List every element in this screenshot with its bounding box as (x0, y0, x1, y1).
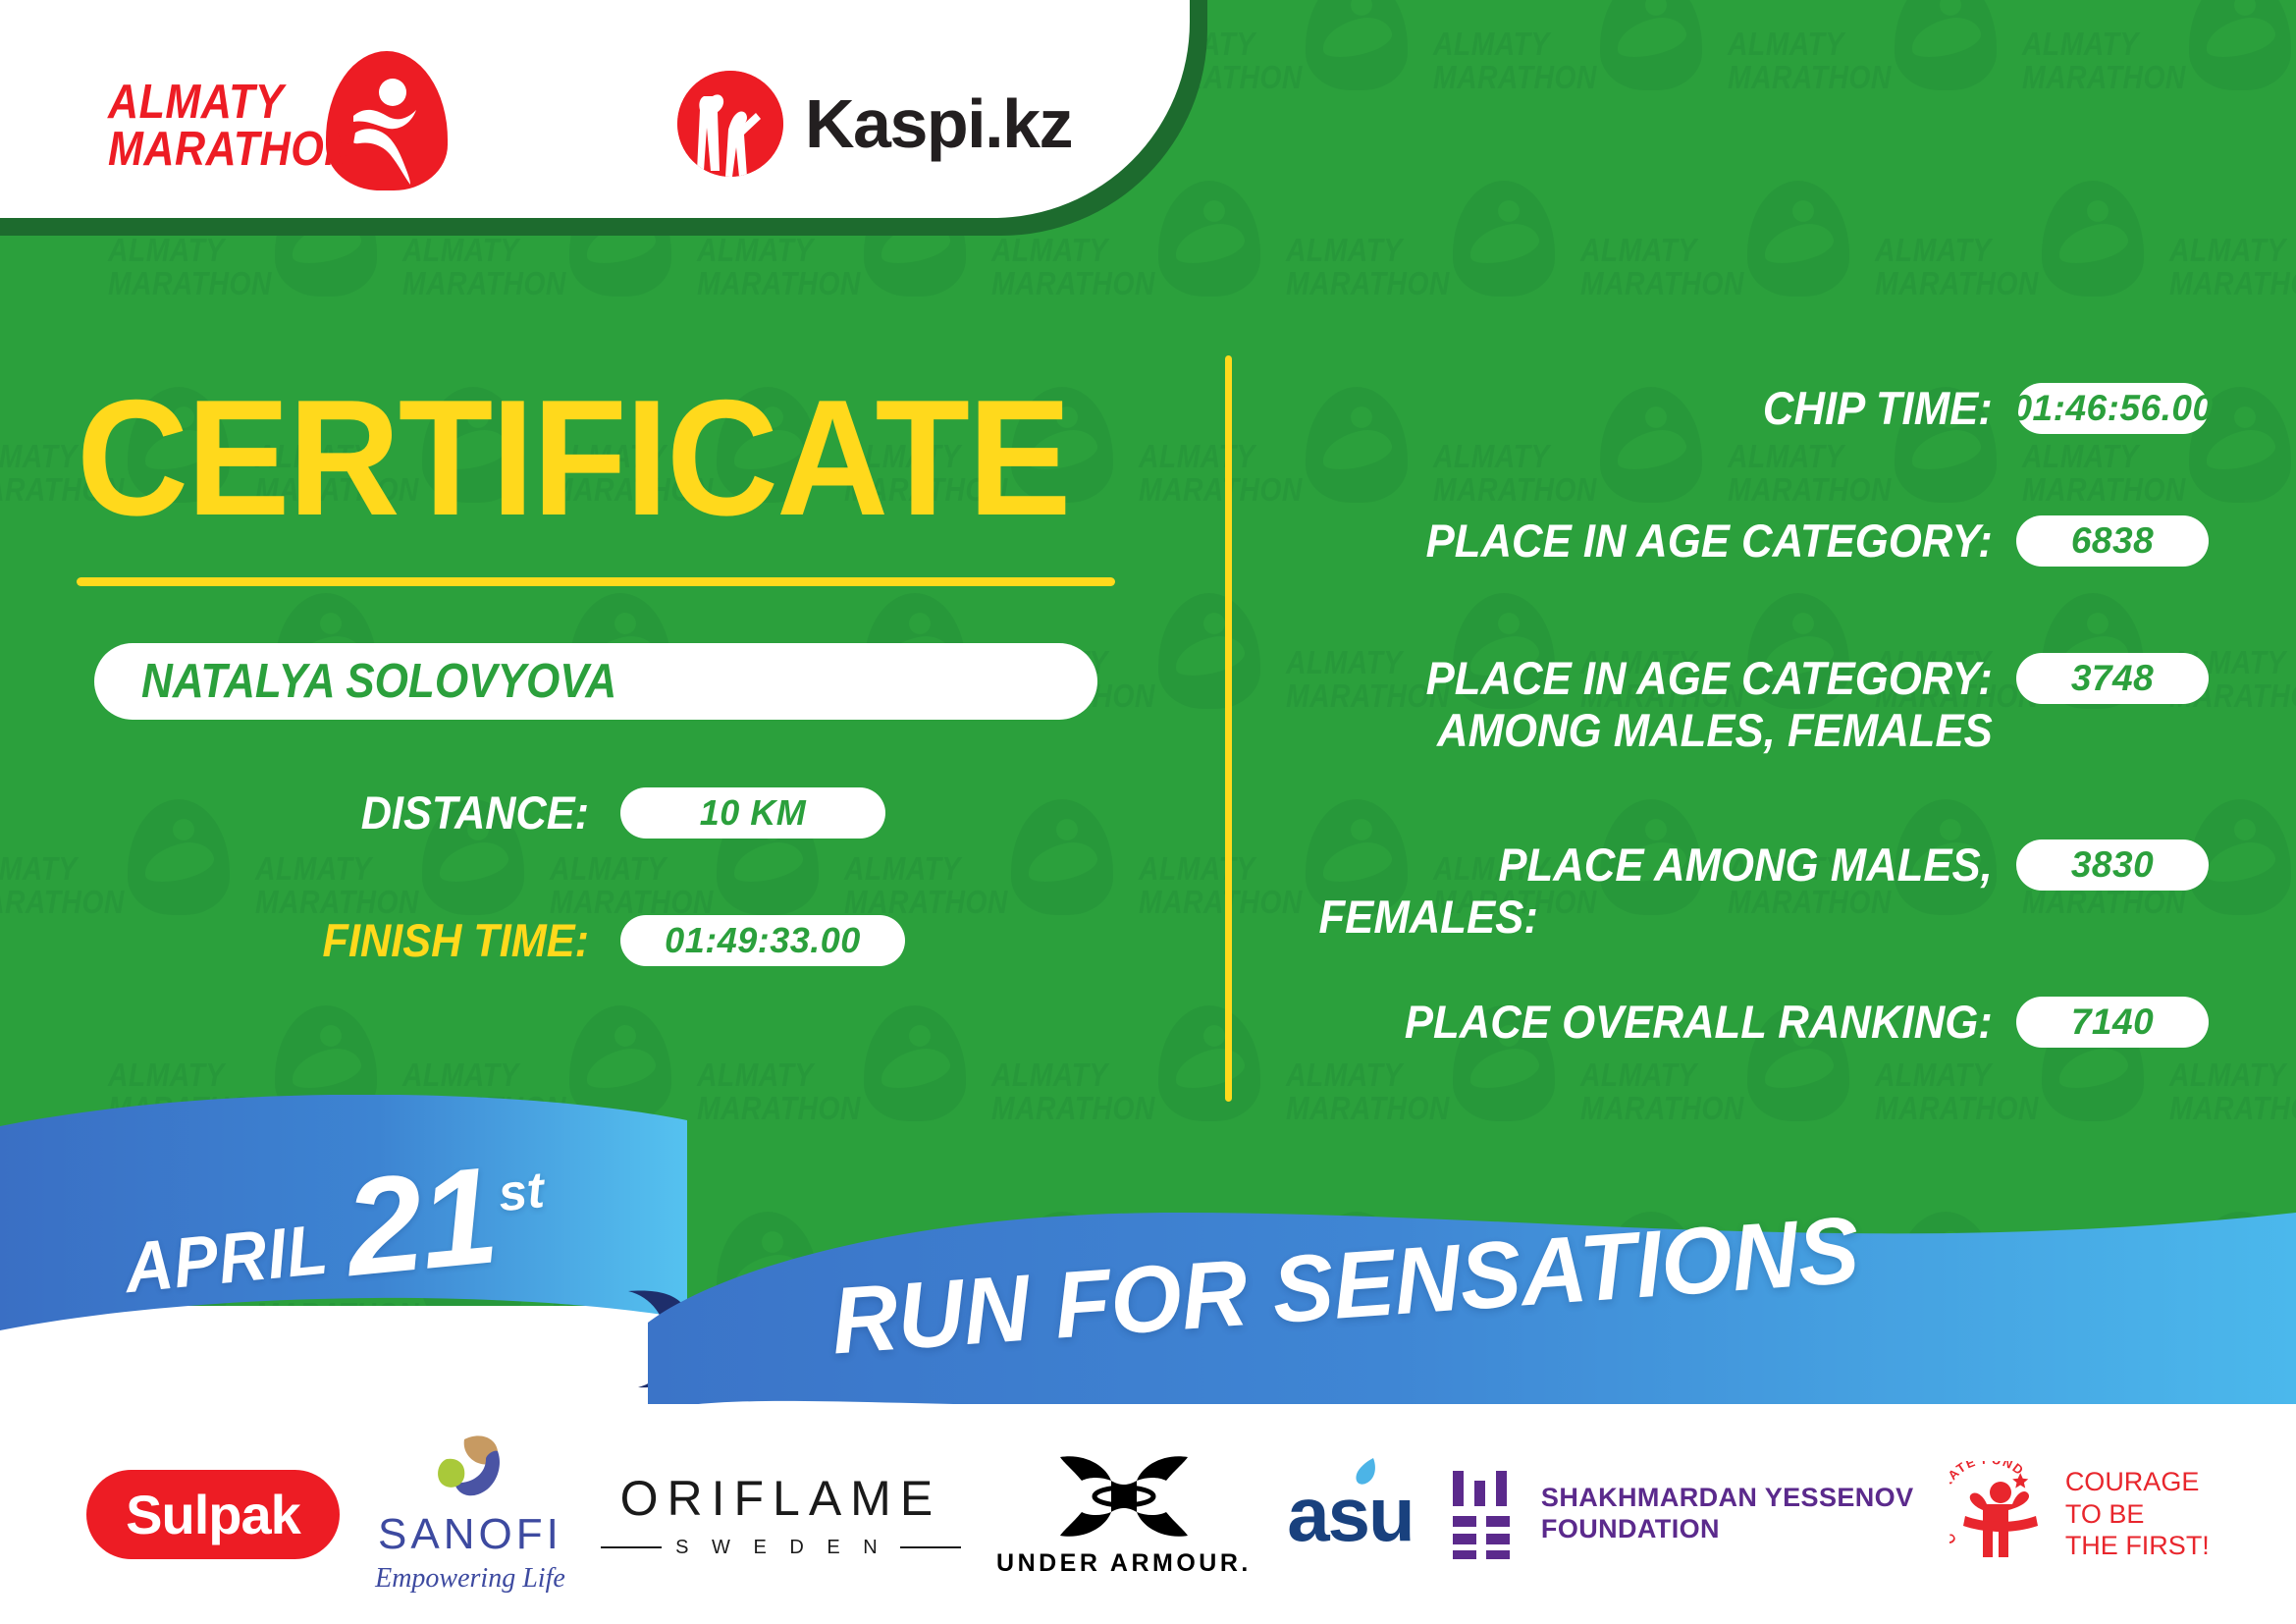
event-day-suffix: st (497, 1164, 547, 1219)
place-overall-value: 7140 (2016, 997, 2209, 1048)
sponsor-sanofi: SANOFI Empowering Life (375, 1434, 565, 1595)
place-among-gender-label: PLACE AMONG MALES, FEMALES: (1318, 839, 2016, 943)
sanofi-wordmark: SANOFI (378, 1510, 562, 1559)
sanofi-mark-icon (425, 1434, 515, 1510)
place-overall-label: PLACE OVERALL RANKING: (1318, 997, 2016, 1049)
finish-time-label: FINISH TIME: (47, 913, 589, 967)
courage-fund-mark-icon: CORPORATE FUND (1949, 1461, 2052, 1567)
participant-name-field: NATALYA SOLOVYOVA (94, 643, 1097, 720)
oriflame-sub: S W E D E N (601, 1537, 961, 1559)
result-row-age-category: PLACE IN AGE CATEGORY: 6838 (1266, 515, 2209, 568)
courage-line-1: COURAGE (2065, 1466, 2210, 1498)
certificate-page: ALMATYMARATHONALMATYMARATHONALMATYMARATH… (0, 0, 2296, 1624)
sponsor-under-armour: UNDER ARMOUR. (996, 1451, 1252, 1578)
participant-name: NATALYA SOLOVYOVA (141, 654, 616, 709)
foundation-line-1: SHAKHMARDAN YESSENOV (1541, 1483, 1914, 1514)
courage-line-3: THE FIRST! (2065, 1530, 2210, 1562)
oriflame-rule-left (601, 1546, 662, 1548)
oriflame-wordmark: ORIFLAME (620, 1470, 942, 1527)
title-underline (77, 577, 1115, 586)
label-line-2: AMONG MALES, FEMALES (1318, 705, 1992, 757)
sponsor-asu: asu (1287, 1470, 1413, 1559)
distance-label: DISTANCE: (47, 785, 589, 839)
yessenov-foundation-mark-icon (1449, 1467, 1520, 1561)
event-ribbon: APRIL 21 st RUN FOR SENSATIONS (0, 1095, 2296, 1409)
result-row-chip-time: CHIP TIME: 01:46:56.00 (1266, 383, 2209, 435)
result-row-age-category-gender: PLACE IN AGE CATEGORY: AMONG MALES, FEMA… (1266, 653, 2209, 756)
place-among-gender-value: 3830 (2016, 839, 2209, 891)
place-age-category-gender-value: 3748 (2016, 653, 2209, 704)
foundation-line-2: FOUNDATION (1541, 1514, 1914, 1545)
sponsor-courage-to-be-the-first: CORPORATE FUND COURAGE TO BE THE FIRST! (1949, 1461, 2210, 1567)
sponsor-sulpak: Sulpak (86, 1470, 340, 1559)
sulpak-logo: Sulpak (86, 1470, 340, 1559)
chip-time-value: 01:46:56.00 (2016, 383, 2209, 434)
result-row-among-gender: PLACE AMONG MALES, FEMALES: 3830 (1266, 839, 2209, 943)
label-line-1: PLACE IN AGE CATEGORY: (1318, 653, 1992, 705)
event-day: 21 (341, 1156, 501, 1287)
courage-wordmark: COURAGE TO BE THE FIRST! (2065, 1466, 2210, 1563)
distance-value: 10 KM (620, 787, 885, 839)
oriflame-rule-right (900, 1546, 961, 1548)
sanofi-tagline: Empowering Life (375, 1563, 565, 1595)
oriflame-sweden: S W E D E N (675, 1537, 886, 1559)
under-armour-wordmark: UNDER ARMOUR. (996, 1549, 1252, 1578)
vertical-divider (1225, 355, 1232, 1102)
finish-time-value: 01:49:33.00 (620, 915, 905, 966)
asu-wordmark: asu (1287, 1470, 1413, 1559)
sponsor-oriflame: ORIFLAME S W E D E N (601, 1470, 961, 1559)
place-age-category-label: PLACE IN AGE CATEGORY: (1318, 515, 2016, 568)
result-row-overall: PLACE OVERALL RANKING: 7140 (1266, 997, 2209, 1049)
place-age-category-gender-label: PLACE IN AGE CATEGORY: AMONG MALES, FEMA… (1318, 653, 2016, 756)
label-line-2: FEMALES: (1318, 892, 1992, 944)
place-age-category-value: 6838 (2016, 515, 2209, 567)
chip-time-label: CHIP TIME: (1318, 383, 2016, 435)
yessenov-foundation-wordmark: SHAKHMARDAN YESSENOV FOUNDATION (1541, 1483, 1914, 1545)
sponsor-yessenov-foundation: SHAKHMARDAN YESSENOV FOUNDATION (1449, 1467, 1914, 1561)
courage-line-2: TO BE (2065, 1498, 2210, 1531)
page-title: CERTIFICATE (77, 375, 1070, 540)
asu-droplet-icon (1352, 1456, 1381, 1489)
sponsor-bar: Sulpak SANOFI Empowering Life ORIFLAME S… (0, 1404, 2296, 1624)
label-line-1: PLACE AMONG MALES, (1318, 839, 1992, 892)
under-armour-mark-icon (1050, 1451, 1198, 1542)
